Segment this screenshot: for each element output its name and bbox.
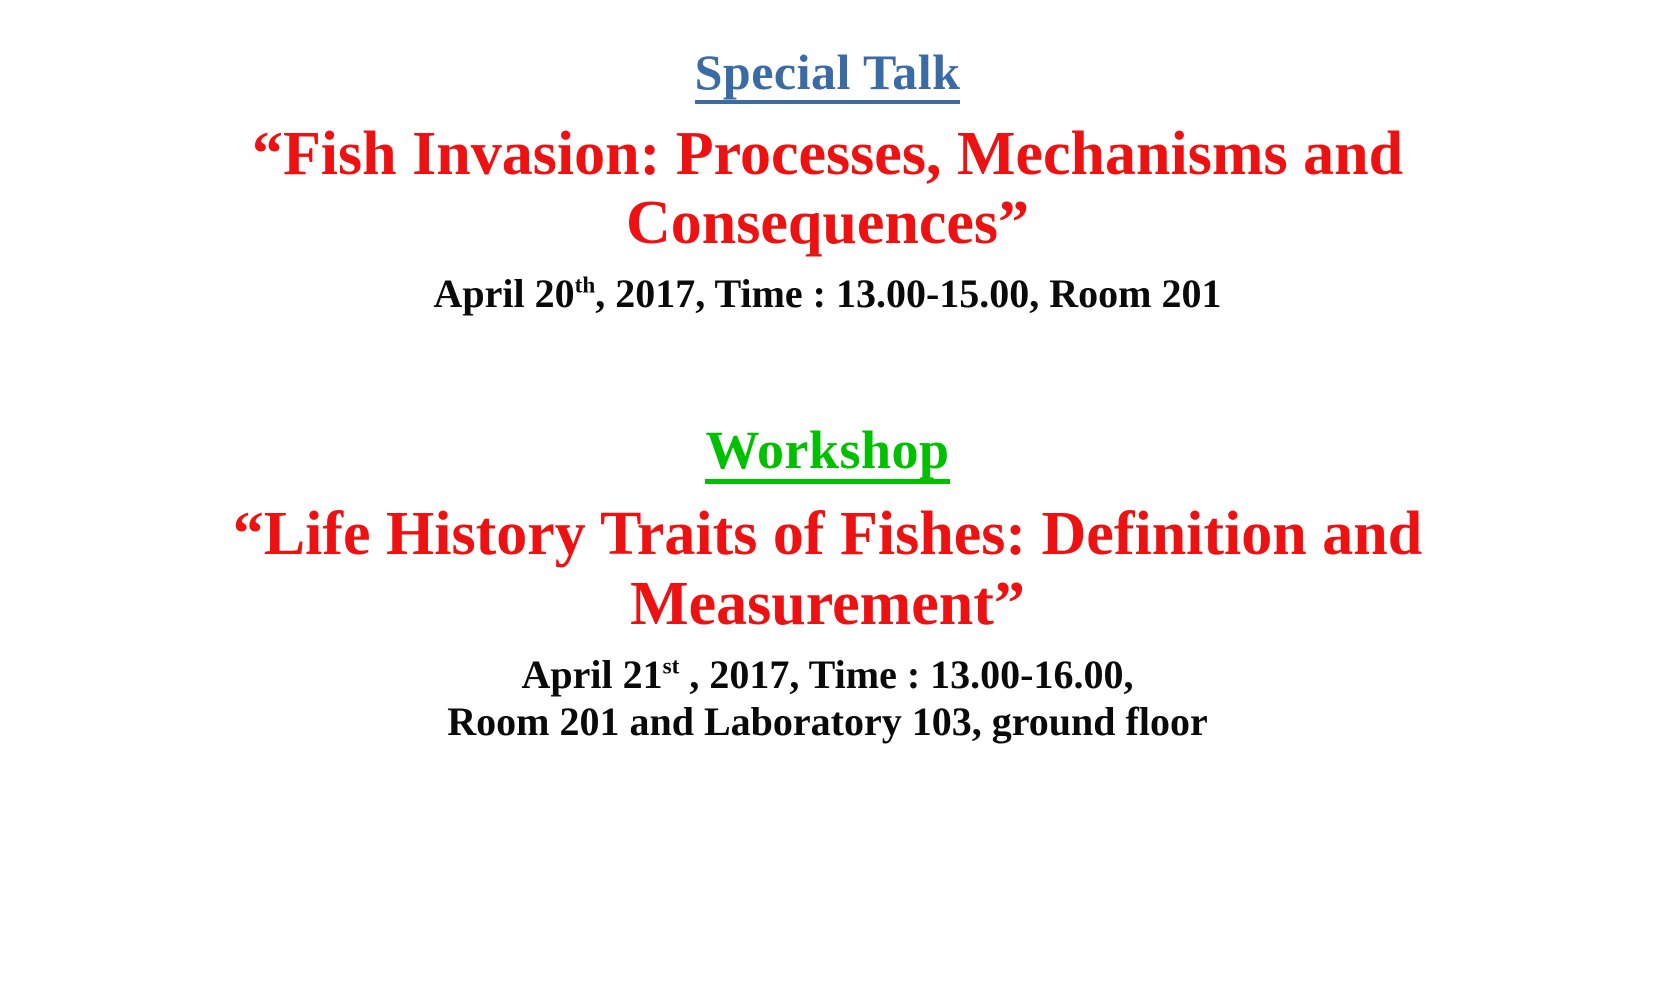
workshop-date-rest: , 2017, Time : 13.00-16.00, (679, 652, 1133, 697)
workshop-heading-text: Workshop (705, 422, 949, 485)
special-talk-heading: Special Talk (0, 46, 1655, 104)
special-talk-date-prefix: April 20 (433, 271, 574, 316)
special-talk-date-rest: , 2017, Time : 13.00-15.00, Room 201 (595, 271, 1221, 316)
poster-canvas: Special Talk “Fish Invasion: Processes, … (0, 46, 1655, 1001)
workshop-date-prefix: April 21 (522, 652, 663, 697)
section-spacer (0, 318, 1655, 422)
special-talk-details: April 20th, 2017, Time : 13.00-15.00, Ro… (0, 270, 1655, 317)
special-talk-heading-text: Special Talk (695, 46, 961, 104)
workshop-heading: Workshop (0, 422, 1655, 485)
workshop-title: “Life History Traits of Fishes: Definiti… (0, 500, 1655, 639)
special-talk-title: “Fish Invasion: Processes, Mechanisms an… (0, 120, 1655, 259)
workshop-date-ordinal: st (663, 654, 680, 680)
workshop-details: April 21st , 2017, Time : 13.00-16.00, R… (0, 651, 1655, 745)
workshop-location-line: Room 201 and Laboratory 103, ground floo… (0, 698, 1655, 745)
special-talk-date-ordinal: th (575, 273, 596, 299)
workshop-date-line: April 21st , 2017, Time : 13.00-16.00, (0, 651, 1655, 698)
